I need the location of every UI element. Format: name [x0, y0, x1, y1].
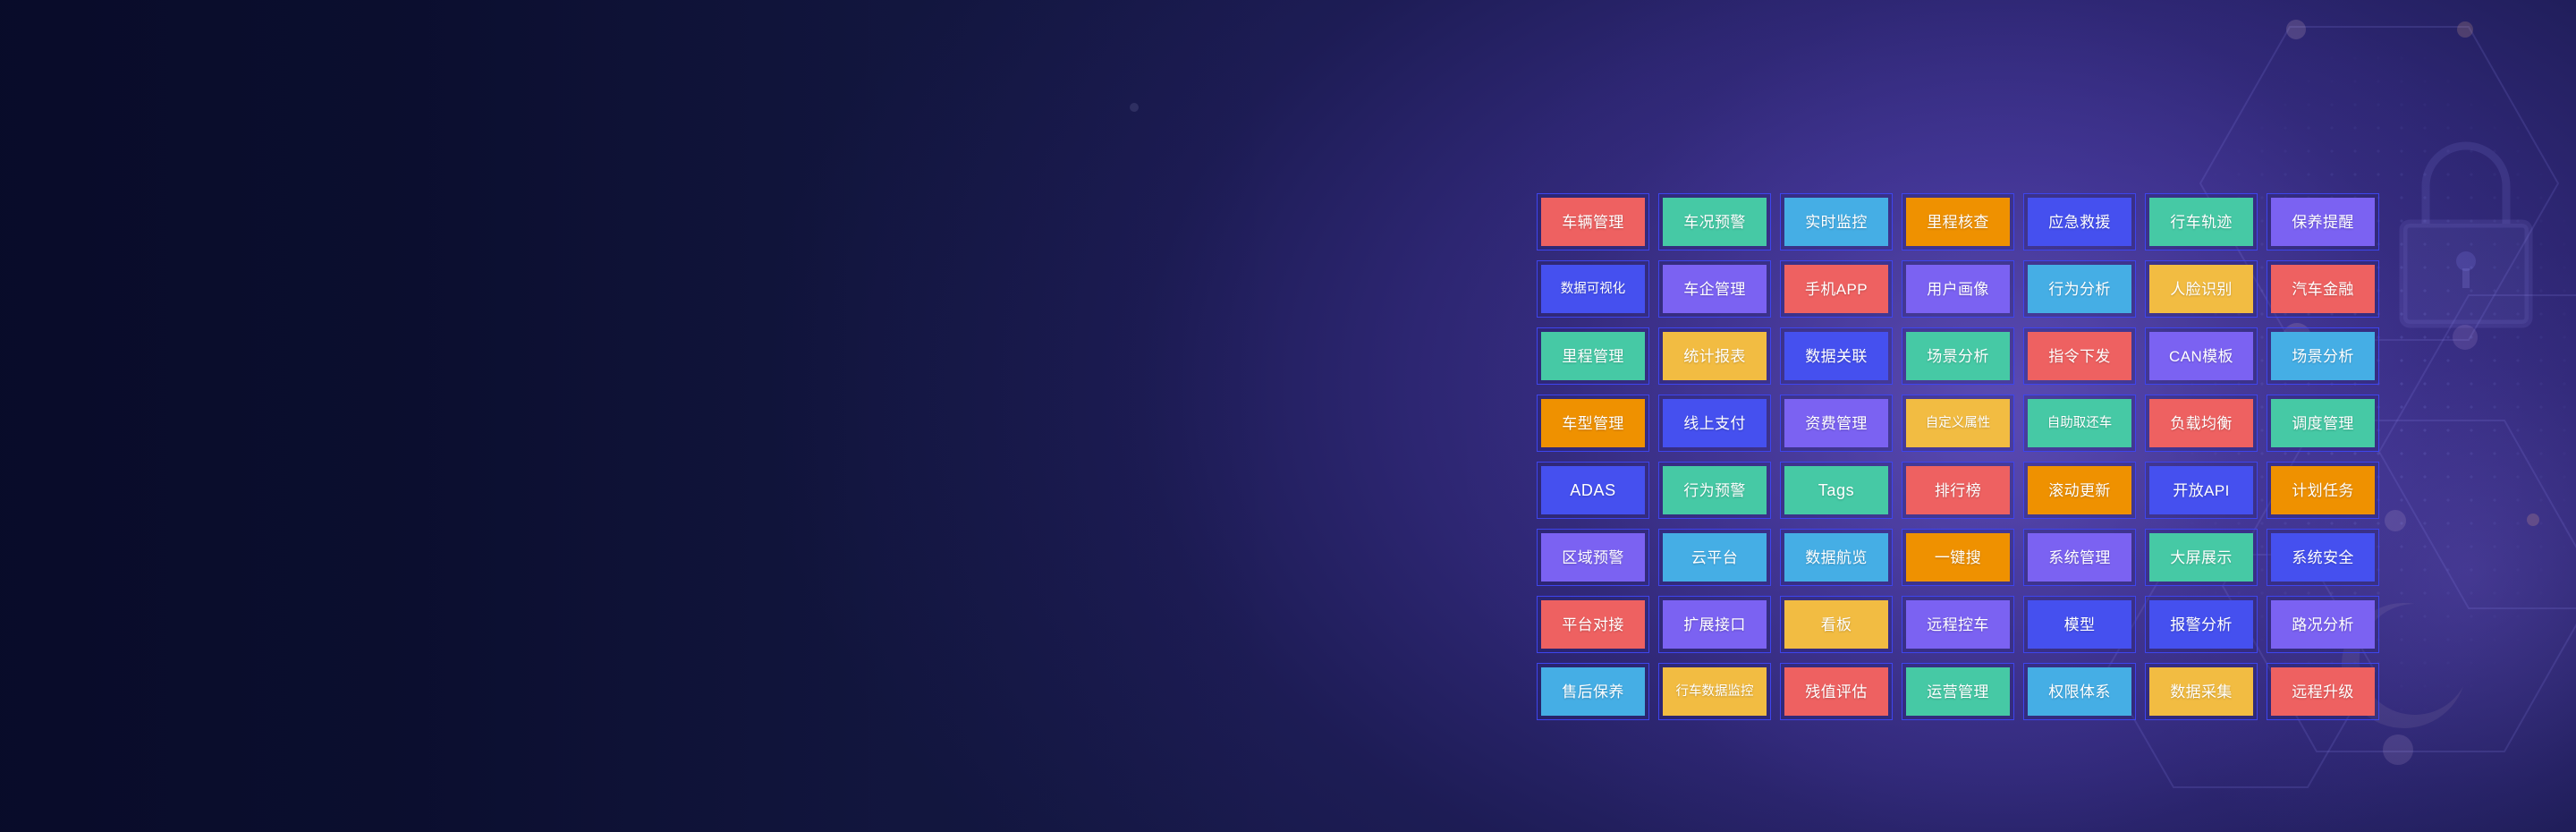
feature-tile[interactable]: 汽车金融: [2267, 260, 2379, 318]
feature-tile[interactable]: ADAS: [1537, 462, 1649, 519]
feature-tile-label: 自定义属性: [1926, 417, 1991, 430]
feature-tile-label: Tags: [1818, 482, 1854, 498]
feature-tile-swatch: 车型管理: [1541, 399, 1645, 447]
feature-tile-label: 车辆管理: [1562, 215, 1624, 230]
feature-tile-label: 场景分析: [1927, 349, 1989, 364]
feature-tile-swatch: 应急救援: [2028, 198, 2131, 246]
feature-tile-swatch: 自助取还车: [2028, 399, 2131, 447]
feature-tile[interactable]: 手机APP: [1780, 260, 1893, 318]
feature-tile-label: 滚动更新: [2048, 483, 2111, 498]
feature-tile[interactable]: 人脸识别: [2145, 260, 2258, 318]
feature-tile-swatch: 负载均衡: [2149, 399, 2253, 447]
feature-tile-swatch: 资费管理: [1784, 399, 1888, 447]
screen: 车辆管理车况预警实时监控里程核查应急救援行车轨迹保养提醒数据可视化车企管理手机A…: [0, 0, 2576, 832]
feature-tile[interactable]: 区域预警: [1537, 529, 1649, 586]
feature-tile-swatch: 调度管理: [2271, 399, 2375, 447]
feature-tile-label: 大屏展示: [2170, 550, 2233, 565]
feature-tile[interactable]: 报警分析: [2145, 596, 2258, 653]
feature-tile[interactable]: 路况分析: [2267, 596, 2379, 653]
feature-tile-swatch: 实时监控: [1784, 198, 1888, 246]
feature-tile-label: 保养提醒: [2292, 215, 2354, 230]
feature-tile-swatch: 指令下发: [2028, 332, 2131, 380]
feature-tile-swatch: 里程管理: [1541, 332, 1645, 380]
feature-tile-swatch: 残值评估: [1784, 667, 1888, 716]
feature-tile[interactable]: 行为分析: [2023, 260, 2136, 318]
feature-tile-swatch: 售后保养: [1541, 667, 1645, 716]
feature-tile[interactable]: 指令下发: [2023, 327, 2136, 385]
feature-tile[interactable]: 系统安全: [2267, 529, 2379, 586]
feature-tile-label: 行为分析: [2048, 282, 2111, 297]
feature-tile-label: 汽车金融: [2292, 282, 2354, 297]
feature-tile-label: 开放API: [2173, 483, 2229, 498]
feature-tile-swatch: 权限体系: [2028, 667, 2131, 716]
feature-tile-label: 统计报表: [1683, 349, 1746, 364]
feature-tile-swatch: 运营管理: [1906, 667, 2010, 716]
feature-tile-swatch: 统计报表: [1663, 332, 1767, 380]
feature-tile-swatch: 开放API: [2149, 466, 2253, 514]
feature-tile-swatch: 远程升级: [2271, 667, 2375, 716]
feature-tile-swatch: 区域预警: [1541, 533, 1645, 582]
feature-tile[interactable]: 大屏展示: [2145, 529, 2258, 586]
feature-tile-swatch: 路况分析: [2271, 600, 2375, 649]
feature-tile-label: 里程管理: [1562, 349, 1624, 364]
feature-tile-label: 系统安全: [2292, 550, 2354, 565]
feature-tile-label: 场景分析: [2292, 349, 2354, 364]
feature-tile-label: 人脸识别: [2170, 282, 2233, 297]
feature-tile-swatch: 扩展接口: [1663, 600, 1767, 649]
feature-tile[interactable]: 远程控车: [1902, 596, 2014, 653]
feature-tile-label: 线上支付: [1683, 416, 1746, 431]
feature-tile[interactable]: 资费管理: [1780, 395, 1893, 452]
feature-tile-swatch: 数据采集: [2149, 667, 2253, 716]
feature-tile-label: 用户画像: [1927, 282, 1989, 297]
feature-tile-label: 远程控车: [1927, 617, 1989, 632]
feature-tile-swatch: 大屏展示: [2149, 533, 2253, 582]
feature-tile-swatch: 系统管理: [2028, 533, 2131, 582]
feature-tile-label: 模型: [2064, 617, 2096, 632]
feature-tile[interactable]: 行车轨迹: [2145, 193, 2258, 250]
feature-tile-label: 平台对接: [1562, 617, 1624, 632]
feature-tile-label: 云平台: [1691, 550, 1738, 565]
feature-tile-swatch: 远程控车: [1906, 600, 2010, 649]
feature-tile[interactable]: 开放API: [2145, 462, 2258, 519]
feature-tile[interactable]: 平台对接: [1537, 596, 1649, 653]
feature-tile-label: 售后保养: [1562, 684, 1624, 700]
feature-tile[interactable]: 扩展接口: [1658, 596, 1771, 653]
feature-tile[interactable]: 保养提醒: [2267, 193, 2379, 250]
feature-tile[interactable]: 权限体系: [2023, 663, 2136, 720]
feature-tile[interactable]: Tags: [1780, 462, 1893, 519]
feature-tile[interactable]: 运营管理: [1902, 663, 2014, 720]
feature-tile-swatch: 计划任务: [2271, 466, 2375, 514]
feature-tile-label: 指令下发: [2048, 349, 2111, 364]
feature-tile-label: CAN模板: [2169, 349, 2233, 364]
feature-tile-swatch: 一键搜: [1906, 533, 2010, 582]
feature-tile-label: 权限体系: [2048, 684, 2111, 700]
feature-tile-swatch: 滚动更新: [2028, 466, 2131, 514]
feature-tile-label: 车型管理: [1562, 416, 1624, 431]
feature-tile[interactable]: 车况预警: [1658, 193, 1771, 250]
feature-tile-label: ADAS: [1570, 482, 1615, 498]
feature-tile[interactable]: 远程升级: [2267, 663, 2379, 720]
feature-tile[interactable]: 车辆管理: [1537, 193, 1649, 250]
feature-tile-swatch: 自定义属性: [1906, 399, 2010, 447]
feature-tile[interactable]: 应急救援: [2023, 193, 2136, 250]
feature-tile-swatch: 汽车金融: [2271, 265, 2375, 313]
feature-tile-label: 扩展接口: [1683, 617, 1746, 632]
feature-tile[interactable]: 一键搜: [1902, 529, 2014, 586]
feature-tile-swatch: 模型: [2028, 600, 2131, 649]
feature-tile-grid: 车辆管理车况预警实时监控里程核查应急救援行车轨迹保养提醒数据可视化车企管理手机A…: [1537, 193, 2379, 720]
feature-tile[interactable]: 排行榜: [1902, 462, 2014, 519]
feature-tile-swatch: 数据关联: [1784, 332, 1888, 380]
feature-tile-swatch: 排行榜: [1906, 466, 2010, 514]
feature-tile-label: 区域预警: [1562, 550, 1624, 565]
feature-tile-label: 一键搜: [1935, 550, 1981, 565]
feature-tile[interactable]: 里程管理: [1537, 327, 1649, 385]
feature-tile[interactable]: 用户画像: [1902, 260, 2014, 318]
feature-tile-label: 行车数据监控: [1676, 685, 1754, 699]
feature-tile[interactable]: 数据采集: [2145, 663, 2258, 720]
feature-tile-label: 系统管理: [2048, 550, 2111, 565]
feature-tile-label: 里程核查: [1927, 215, 1989, 230]
feature-tile[interactable]: 自助取还车: [2023, 395, 2136, 452]
feature-tile[interactable]: 车型管理: [1537, 395, 1649, 452]
feature-tile-label: 路况分析: [2292, 617, 2354, 632]
feature-tile-swatch: 线上支付: [1663, 399, 1767, 447]
feature-tile-label: 实时监控: [1805, 215, 1868, 230]
feature-tile-label: 数据关联: [1805, 349, 1868, 364]
feature-tile[interactable]: 云平台: [1658, 529, 1771, 586]
feature-tile-label: 数据可视化: [1561, 283, 1626, 296]
feature-tile-swatch: 看板: [1784, 600, 1888, 649]
feature-tile-swatch: 报警分析: [2149, 600, 2253, 649]
feature-tile-label: 行车轨迹: [2170, 215, 2233, 230]
feature-tile-swatch: 系统安全: [2271, 533, 2375, 582]
feature-tile-swatch: 行为分析: [2028, 265, 2131, 313]
feature-tile-swatch: ADAS: [1541, 466, 1645, 514]
feature-tile-label: 运营管理: [1927, 684, 1989, 700]
feature-tile-label: 数据采集: [2170, 684, 2233, 700]
feature-tile-label: 远程升级: [2292, 684, 2354, 700]
feature-tile-swatch: 行车轨迹: [2149, 198, 2253, 246]
feature-tile-label: 计划任务: [2292, 483, 2354, 498]
feature-tile-label: 自助取还车: [2047, 417, 2113, 430]
feature-tile-label: 负载均衡: [2170, 416, 2233, 431]
feature-tile-swatch: 车辆管理: [1541, 198, 1645, 246]
feature-tile[interactable]: 数据航览: [1780, 529, 1893, 586]
feature-tile[interactable]: 场景分析: [1902, 327, 2014, 385]
feature-tile-label: 车企管理: [1683, 282, 1746, 297]
feature-tile[interactable]: 车企管理: [1658, 260, 1771, 318]
feature-tile[interactable]: 场景分析: [2267, 327, 2379, 385]
feature-tile-swatch: Tags: [1784, 466, 1888, 514]
feature-tile-swatch: CAN模板: [2149, 332, 2253, 380]
feature-tile[interactable]: 实时监控: [1780, 193, 1893, 250]
feature-tile[interactable]: 行为预警: [1658, 462, 1771, 519]
feature-tile-label: 手机APP: [1805, 282, 1868, 297]
feature-tile-swatch: 手机APP: [1784, 265, 1888, 313]
feature-tile[interactable]: 计划任务: [2267, 462, 2379, 519]
feature-tile-label: 看板: [1821, 617, 1852, 632]
feature-tile-label: 残值评估: [1805, 684, 1868, 700]
feature-tile[interactable]: 售后保养: [1537, 663, 1649, 720]
feature-tile[interactable]: 模型: [2023, 596, 2136, 653]
feature-tile[interactable]: 统计报表: [1658, 327, 1771, 385]
feature-tile[interactable]: 行车数据监控: [1658, 663, 1771, 720]
feature-tile-label: 报警分析: [2170, 617, 2233, 632]
feature-tile[interactable]: 线上支付: [1658, 395, 1771, 452]
feature-tile-swatch: 数据可视化: [1541, 265, 1645, 313]
feature-tile-swatch: 数据航览: [1784, 533, 1888, 582]
feature-tile-swatch: 场景分析: [2271, 332, 2375, 380]
feature-tile-swatch: 车况预警: [1663, 198, 1767, 246]
feature-tile-swatch: 场景分析: [1906, 332, 2010, 380]
feature-tile[interactable]: 里程核查: [1902, 193, 2014, 250]
feature-tile-swatch: 行为预警: [1663, 466, 1767, 514]
feature-tile-swatch: 里程核查: [1906, 198, 2010, 246]
feature-tile-label: 排行榜: [1935, 483, 1981, 498]
feature-tile[interactable]: 滚动更新: [2023, 462, 2136, 519]
feature-tile[interactable]: 数据可视化: [1537, 260, 1649, 318]
feature-tile-label: 资费管理: [1805, 416, 1868, 431]
feature-tile-swatch: 车企管理: [1663, 265, 1767, 313]
feature-tile-label: 车况预警: [1683, 215, 1746, 230]
feature-tile[interactable]: CAN模板: [2145, 327, 2258, 385]
feature-tile[interactable]: 负载均衡: [2145, 395, 2258, 452]
feature-tile[interactable]: 系统管理: [2023, 529, 2136, 586]
feature-tile-label: 数据航览: [1805, 550, 1868, 565]
feature-tile[interactable]: 残值评估: [1780, 663, 1893, 720]
feature-tile[interactable]: 看板: [1780, 596, 1893, 653]
feature-tile-label: 行为预警: [1683, 483, 1746, 498]
feature-tile-label: 调度管理: [2292, 416, 2354, 431]
feature-tile-swatch: 平台对接: [1541, 600, 1645, 649]
feature-tile-swatch: 云平台: [1663, 533, 1767, 582]
feature-tile-swatch: 人脸识别: [2149, 265, 2253, 313]
feature-tile[interactable]: 调度管理: [2267, 395, 2379, 452]
feature-tile[interactable]: 数据关联: [1780, 327, 1893, 385]
feature-tile-label: 应急救援: [2048, 215, 2111, 230]
feature-tile-swatch: 保养提醒: [2271, 198, 2375, 246]
feature-tile-swatch: 用户画像: [1906, 265, 2010, 313]
feature-tile[interactable]: 自定义属性: [1902, 395, 2014, 452]
feature-tile-swatch: 行车数据监控: [1663, 667, 1767, 716]
